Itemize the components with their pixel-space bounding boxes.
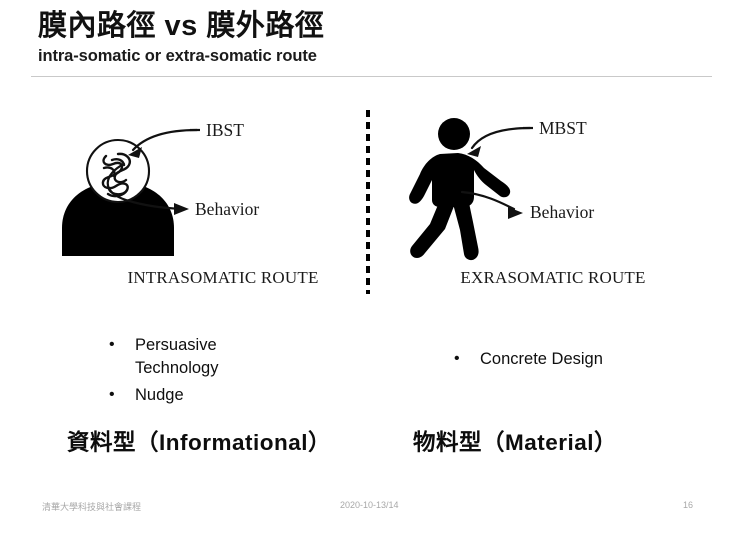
panel-caption-intrasomatic: INTRASOMATIC ROUTE	[40, 268, 388, 288]
bottom-heading-material: 物料型（Material）	[413, 425, 617, 457]
footer-date-label: 2020-10-13/14	[340, 500, 399, 510]
walking-person-icon: MBST Behavior	[380, 108, 710, 268]
list-item: • Concrete Design	[450, 348, 700, 371]
behavior-arrowhead-shape-right	[508, 207, 523, 219]
head-with-brain-scribble-icon: IBST Behavior	[40, 108, 370, 268]
diagram-panel-intrasomatic: IBST Behavior INTRASOMATIC ROUTE	[40, 108, 370, 298]
list-item: • Nudge	[105, 384, 335, 407]
behavior-arrowhead-shape-left	[174, 203, 189, 215]
header-divider-rule	[31, 76, 712, 77]
diagram-label-ibst: IBST	[206, 120, 244, 140]
footer-page-number: 16	[683, 500, 693, 510]
page-title: 膜內路徑 vs 膜外路徑	[38, 8, 718, 44]
list-item: • Persuasive Technology	[105, 334, 335, 380]
bullet-list-left: • Persuasive Technology • Nudge	[105, 334, 335, 410]
bullet-list-right: • Concrete Design	[450, 348, 700, 375]
bottom-heading-informational: 資料型（Informational）	[67, 425, 331, 457]
mbst-arrow-shape	[472, 128, 530, 148]
bullet-dot-icon: •	[109, 334, 115, 356]
diagram-label-behavior-left: Behavior	[195, 199, 259, 219]
diagram-panel-extrasomatic: MBST Behavior EXRASOMATIC ROUTE	[380, 108, 710, 298]
bullet-dot-icon: •	[454, 348, 460, 370]
mbst-arrowhead-shape	[467, 146, 481, 157]
slide-footer: 清華大學科技與社會課程 2020-10-13/14 16	[0, 497, 740, 517]
walking-person-shape	[409, 118, 510, 260]
diagram-label-mbst: MBST	[539, 118, 587, 138]
footer-course-label: 清華大學科技與社會課程	[42, 500, 141, 513]
bullet-label: Nudge	[135, 386, 184, 404]
page-subtitle: intra-somatic or extra-somatic route	[38, 47, 718, 66]
diagram-label-behavior-right: Behavior	[530, 202, 594, 222]
slide-canvas: 膜內路徑 vs 膜外路徑 intra-somatic or extra-soma…	[0, 0, 740, 554]
bullet-label: Concrete Design	[480, 350, 603, 368]
bullet-dot-icon: •	[109, 384, 115, 406]
panel-caption-extrasomatic: EXRASOMATIC ROUTE	[380, 268, 718, 288]
title-block: 膜內路徑 vs 膜外路徑 intra-somatic or extra-soma…	[38, 8, 718, 66]
ibst-arrow-shape	[133, 130, 197, 150]
bullet-label: Persuasive Technology	[135, 336, 218, 377]
